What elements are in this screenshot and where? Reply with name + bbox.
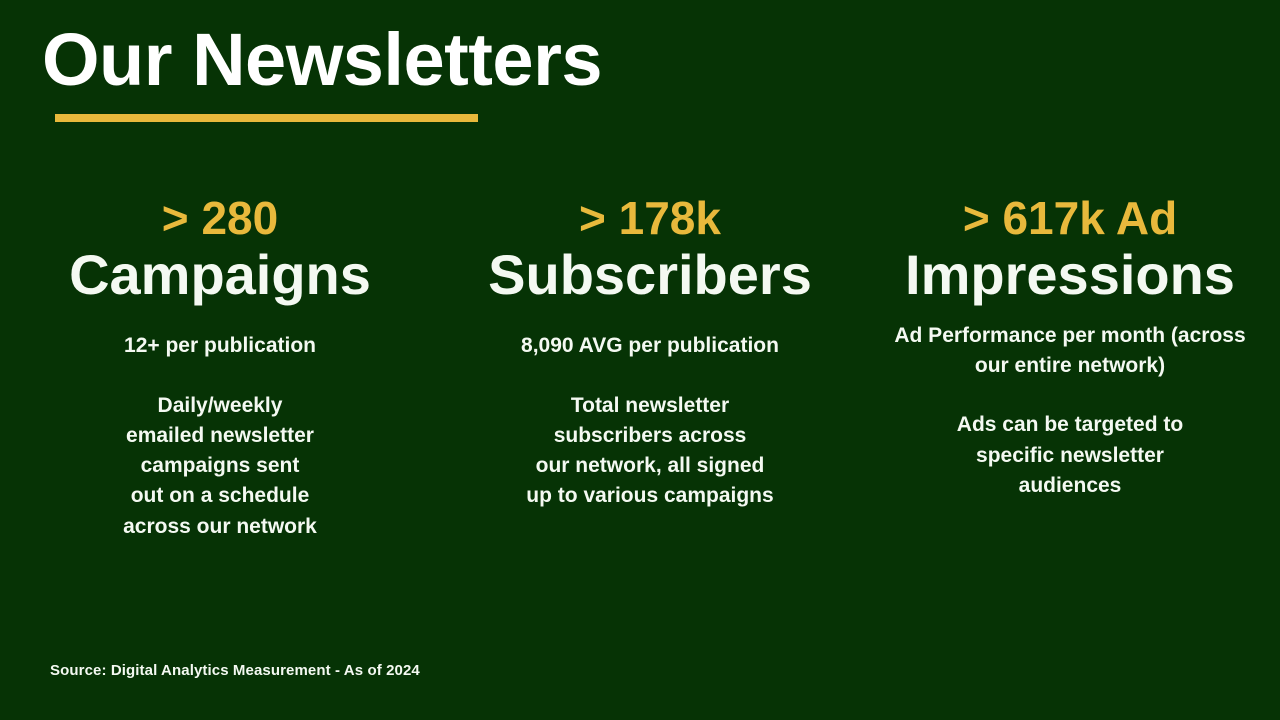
- stat-column-ad-impressions: > 617k Ad Impressions Ad Performance per…: [860, 190, 1280, 501]
- stat-body-line: subscribers across: [450, 421, 850, 451]
- stat-body-campaigns: Daily/weekly emailed newsletter campaign…: [18, 391, 422, 542]
- page-title: Our Newsletters: [42, 20, 942, 100]
- stat-body-line: audiences: [876, 471, 1264, 501]
- stat-column-subscribers: > 178k Subscribers 8,090 AVG per publica…: [440, 190, 860, 512]
- stat-number-ad-impressions: > 617k Ad: [876, 190, 1264, 246]
- stat-body-line: up to various campaigns: [450, 481, 850, 511]
- stat-body-line: specific newsletter: [876, 441, 1264, 471]
- slide-canvas: Our Newsletters > 280 Campaigns 12+ per …: [0, 0, 1280, 720]
- stat-body-line: across our network: [18, 512, 422, 542]
- stat-body-subscribers: Total newsletter subscribers across our …: [450, 391, 850, 512]
- stat-body-line: out on a schedule: [18, 481, 422, 511]
- stat-caption-campaigns: 12+ per publication: [18, 331, 422, 361]
- title-underline-rule: [55, 114, 478, 122]
- stats-columns: > 280 Campaigns 12+ per publication Dail…: [0, 190, 1280, 542]
- stat-body-ad-impressions: Ads can be targeted to specific newslett…: [876, 410, 1264, 501]
- title-block: Our Newsletters: [42, 20, 942, 122]
- stat-caption-ad-impressions: Ad Performance per month (across our ent…: [876, 321, 1264, 381]
- stat-body-line: Daily/weekly: [18, 391, 422, 421]
- source-note: Source: Digital Analytics Measurement - …: [50, 662, 420, 679]
- stat-column-campaigns: > 280 Campaigns 12+ per publication Dail…: [0, 190, 440, 542]
- stat-label-campaigns: Campaigns: [18, 244, 422, 307]
- stat-number-subscribers: > 178k: [450, 190, 850, 246]
- stat-body-line: Total newsletter: [450, 391, 850, 421]
- stat-number-campaigns: > 280: [18, 190, 422, 246]
- stat-caption-subscribers: 8,090 AVG per publication: [450, 331, 850, 361]
- stat-body-line: our network, all signed: [450, 451, 850, 481]
- stat-body-line: Ads can be targeted to: [876, 410, 1264, 440]
- stat-caption-line: Ad Performance per month: [894, 324, 1165, 347]
- stat-body-line: emailed newsletter: [18, 421, 422, 451]
- stat-label-subscribers: Subscribers: [450, 244, 850, 307]
- stat-body-line: campaigns sent: [18, 451, 422, 481]
- stat-label-ad-impressions: Impressions: [876, 244, 1264, 307]
